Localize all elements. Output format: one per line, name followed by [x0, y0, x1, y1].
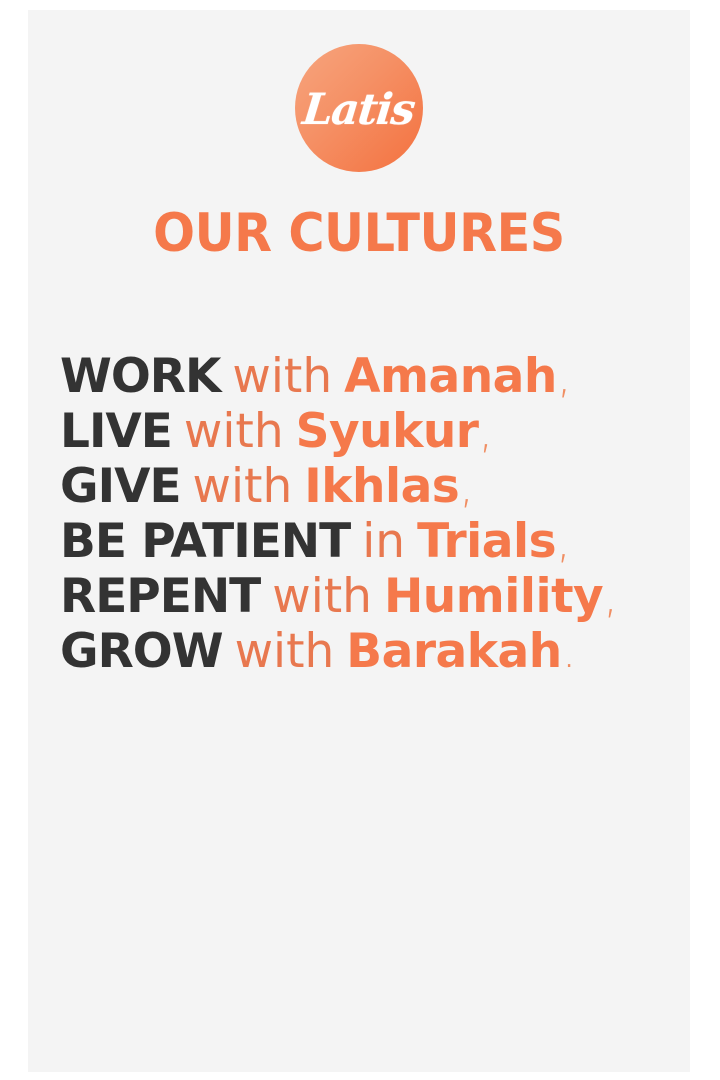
culture-verb: GROW: [60, 624, 223, 679]
culture-punctuation: ,: [557, 349, 572, 404]
culture-punctuation: ,: [459, 459, 474, 514]
page-title: OUR CULTURES: [51, 206, 667, 262]
poster-card: Latis OUR CULTURES WORKwithAmanah,LIVEwi…: [28, 10, 690, 1072]
culture-connector: with: [272, 569, 372, 624]
culture-line: WORKwithAmanah,: [60, 348, 676, 403]
culture-punctuation: ,: [556, 514, 571, 569]
culture-line: BE PATIENTinTrials,: [60, 513, 676, 568]
logo-circle: Latis: [295, 44, 423, 172]
culture-punctuation: .: [562, 624, 577, 679]
culture-verb: LIVE: [60, 404, 172, 459]
culture-connector: in: [362, 514, 405, 569]
culture-verb: GIVE: [60, 459, 181, 514]
culture-noun: Trials: [417, 514, 556, 569]
culture-noun: Barakah: [346, 624, 561, 679]
culture-line: GIVEwithIkhlas,: [60, 458, 676, 513]
culture-line: LIVEwithSyukur,: [60, 403, 676, 458]
culture-noun: Syukur: [296, 404, 479, 459]
culture-connector: with: [232, 349, 332, 404]
culture-verb: WORK: [60, 349, 220, 404]
culture-connector: with: [235, 624, 335, 679]
culture-list: WORKwithAmanah,LIVEwithSyukur,GIVEwithIk…: [60, 348, 676, 678]
culture-connector: with: [193, 459, 293, 514]
culture-noun: Amanah: [344, 349, 557, 404]
culture-punctuation: ,: [478, 404, 493, 459]
culture-noun: Ikhlas: [304, 459, 459, 514]
culture-connector: with: [184, 404, 284, 459]
culture-line: REPENTwithHumility,: [60, 568, 676, 623]
logo-wordmark: Latis: [301, 89, 417, 132]
culture-noun: Humility: [384, 569, 603, 624]
culture-line: GROWwithBarakah.: [60, 623, 676, 678]
culture-verb: BE PATIENT: [60, 514, 350, 569]
logo-block: Latis: [28, 44, 690, 172]
culture-punctuation: ,: [603, 569, 618, 624]
culture-verb: REPENT: [60, 569, 260, 624]
